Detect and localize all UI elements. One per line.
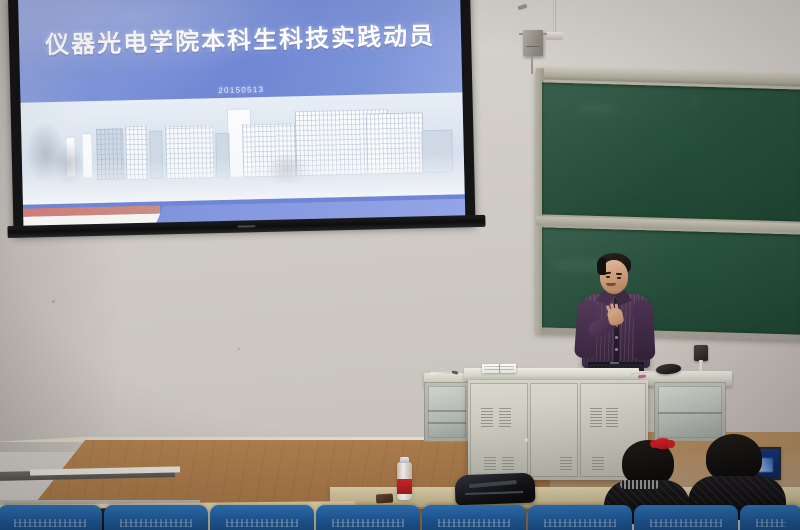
vent-slits	[590, 408, 602, 428]
bottle-cap	[400, 457, 409, 463]
ceiling-pipe-icon	[553, 0, 556, 34]
podium-shelf-line	[428, 410, 466, 412]
bag-strap	[469, 480, 517, 488]
chalkboard-panel-upper	[542, 82, 800, 221]
podium-right-compartment	[654, 382, 726, 442]
podium-body	[468, 380, 648, 480]
chair[interactable]	[0, 505, 102, 530]
photo-ground-haze	[22, 152, 465, 205]
podium-shelf-line	[658, 412, 722, 414]
shirt-button	[615, 336, 618, 339]
wall-speck	[238, 348, 240, 350]
podium-left-glass	[428, 386, 466, 438]
vent-slits	[592, 457, 604, 471]
presenter-eye	[617, 277, 621, 279]
wall-speck	[52, 300, 55, 303]
presenter-eye	[606, 276, 610, 278]
shoulder-bag-icon[interactable]	[455, 473, 536, 506]
chair[interactable]	[104, 505, 208, 530]
bag-zipper	[465, 491, 523, 495]
vent-slits	[499, 408, 511, 428]
podium-shelf-line	[428, 422, 466, 424]
bottle-label	[397, 479, 412, 494]
slide-photo	[21, 93, 465, 205]
shirt-button	[615, 348, 618, 351]
vent-slits	[481, 408, 493, 428]
pipe-cap	[546, 32, 563, 40]
podium-door-left[interactable]	[470, 383, 528, 477]
student-collar-trim	[620, 480, 660, 489]
chalk-smudge	[578, 103, 618, 114]
vent-slits	[502, 457, 514, 471]
presenter-sideburn	[597, 258, 606, 275]
box-conduit-stem	[531, 56, 533, 74]
chair[interactable]	[634, 505, 738, 530]
red-hair-bow-icon	[654, 438, 671, 449]
presenter-mouth	[606, 283, 616, 286]
projector-screen[interactable]: 仪器光电学院本科生科技实践动员 20150513	[8, 0, 484, 254]
door-handle[interactable]	[524, 438, 529, 443]
power-outlet-right-icon[interactable]	[694, 345, 708, 361]
book-spine	[499, 364, 500, 373]
water-bottle-left-icon[interactable]	[397, 462, 412, 500]
chair[interactable]	[422, 505, 526, 530]
vent-slits	[606, 408, 618, 428]
lecture-hall-photo: 仪器光电学院本科生科技实践动员 20150513	[0, 0, 800, 530]
chair[interactable]	[740, 505, 800, 530]
student-head	[706, 434, 762, 482]
presenter-brow	[616, 273, 622, 275]
screen-bar-label	[237, 225, 255, 227]
box-seam	[526, 46, 539, 47]
presenter-arm-right	[632, 300, 655, 361]
chair[interactable]	[210, 505, 314, 530]
vent-slits	[484, 457, 496, 471]
chair[interactable]	[528, 505, 632, 530]
screen-surface: 仪器光电学院本科生科技实践动员 20150513	[18, 0, 465, 227]
chair[interactable]	[316, 505, 420, 530]
open-book-icon[interactable]	[482, 364, 516, 374]
vent-slits	[560, 457, 572, 471]
chalk-smudge	[692, 95, 697, 111]
podium-left-compartment	[424, 382, 470, 442]
wall-junction-box-icon	[523, 30, 543, 56]
phone-icon[interactable]	[376, 494, 393, 504]
podium-door-center[interactable]	[530, 383, 578, 477]
